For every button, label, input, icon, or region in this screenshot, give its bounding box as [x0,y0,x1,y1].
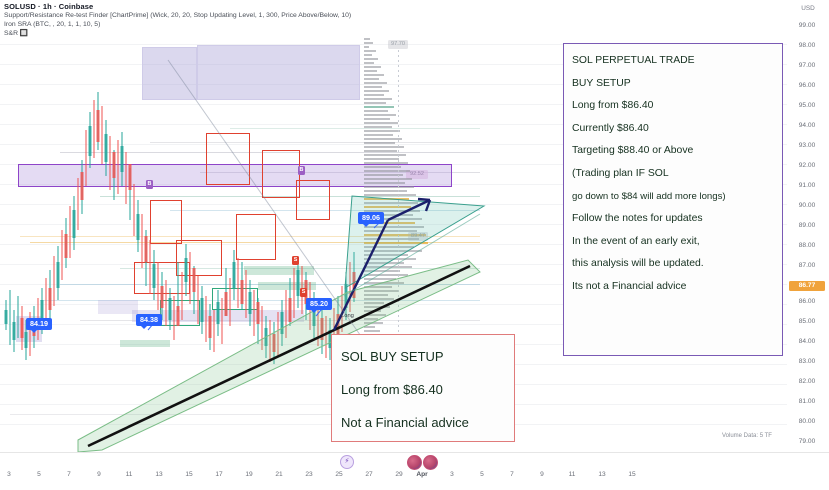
time-tick: 7 [67,471,71,478]
note-line: Currently $86.40 [572,118,774,141]
price-tick: 85.00 [787,318,827,325]
note-line: BUY SETUP [572,73,774,96]
time-tick: 5 [480,471,484,478]
time-tick: 27 [365,471,372,478]
time-tick: 7 [510,471,514,478]
indicator-title-1[interactable]: Support/Resistance Re-test Finder [Chart… [4,11,351,20]
callout-84-38[interactable]: 84.38 [136,314,162,326]
flag-icon[interactable] [423,455,438,470]
note-line: Targeting $88.40 or Above [572,140,774,163]
chart-header: SOLUSD · 1h · Coinbase Support/Resistanc… [4,2,351,39]
note-line: In the event of an early exit, [572,231,774,254]
price-tick: 99.00 [787,22,827,29]
price-axis-unit: USD [787,5,829,12]
volume-data-label: Volume Data: 5 TF [722,433,772,439]
note-line: Long from $86.40 [572,95,774,118]
time-tick: 13 [155,471,162,478]
tradingview-chart-screenshot: 92.52 [0,0,829,489]
time-tick: 3 [7,471,11,478]
time-tick: 9 [97,471,101,478]
sell-marker: S [300,288,307,297]
note-line: Its not a Financial advice [572,276,774,299]
price-tick: 88.00 [787,242,827,249]
sub-note-line: SOL BUY SETUP [341,340,505,373]
long-entry-label: Long [341,313,354,319]
time-tick: 19 [245,471,252,478]
time-tick: 15 [628,471,635,478]
sol-perpetual-trade-note[interactable]: SOL PERPETUAL TRADE BUY SETUP Long from … [563,43,783,356]
time-tick: 23 [305,471,312,478]
sol-buy-setup-note[interactable]: SOL BUY SETUP Long from $86.40 Not a Fin… [331,334,515,442]
price-tick: 82.00 [787,378,827,385]
price-tick: 89.00 [787,222,827,229]
price-tick: 97.00 [787,62,827,69]
price-tick: 86.00 [787,298,827,305]
symbol-title[interactable]: SOLUSD · 1h · Coinbase [4,2,351,11]
price-tick: 95.00 [787,102,827,109]
time-tick: 17 [215,471,222,478]
buy-marker: B [298,166,305,175]
time-tick: 13 [598,471,605,478]
time-tick: 29 [395,471,402,478]
time-tick: 9 [540,471,544,478]
callout-84-19[interactable]: 84.19 [26,318,52,330]
price-tick: 90.00 [787,202,827,209]
price-tick: 91.00 [787,182,827,189]
note-line: (Trading plan IF SOL [572,163,774,186]
note-line: go down to $84 will add more longs) [572,186,774,209]
time-tick: 3 [450,471,454,478]
time-tick: 21 [275,471,282,478]
note-line: Follow the notes for updates [572,208,774,231]
time-tick: 15 [185,471,192,478]
time-tick-month: Apr [416,471,427,478]
price-tick: 80.00 [787,418,827,425]
time-tick: 5 [37,471,41,478]
current-price-tag[interactable]: 86.77 [789,281,825,291]
callout-85-20[interactable]: 85.20 [306,298,332,310]
price-tick: 98.00 [787,42,827,49]
sub-note-line: Not a Financial advice [341,406,505,439]
price-tick: 92.00 [787,162,827,169]
sell-marker: S [292,256,299,265]
note-line: SOL PERPETUAL TRADE [572,50,774,73]
indicator-title-3[interactable]: S&R 🔲 [4,29,351,38]
price-tick: 81.00 [787,398,827,405]
flag-icon[interactable] [407,455,422,470]
time-axis[interactable]: ⚡ 3 5 7 9 11 13 15 17 19 21 23 25 27 29 … [0,452,829,490]
price-axis[interactable]: USD 99.00 98.00 97.00 96.00 95.00 94.00 … [787,0,829,452]
indicator-title-2[interactable]: Iron SRA (BTC, , 20, 1, 1, 10, 5) [4,20,351,29]
price-tick: 96.00 [787,82,827,89]
buy-marker: B [146,180,153,189]
time-tick: 11 [126,471,133,478]
price-tick: 79.00 [787,438,827,445]
time-tick: 11 [569,471,576,478]
time-tick: 25 [335,471,342,478]
price-tick: 84.00 [787,338,827,345]
note-line: this analysis will be updated. [572,253,774,276]
price-tick: 93.00 [787,142,827,149]
price-tick: 87.00 [787,262,827,269]
chart-plot-area[interactable]: 92.52 [0,0,787,452]
sub-note-line: Long from $86.40 [341,373,505,406]
price-tick: 83.00 [787,358,827,365]
callout-89-06[interactable]: 89.06 [358,212,384,224]
price-tick: 94.00 [787,122,827,129]
event-icon[interactable]: ⚡ [340,455,354,469]
